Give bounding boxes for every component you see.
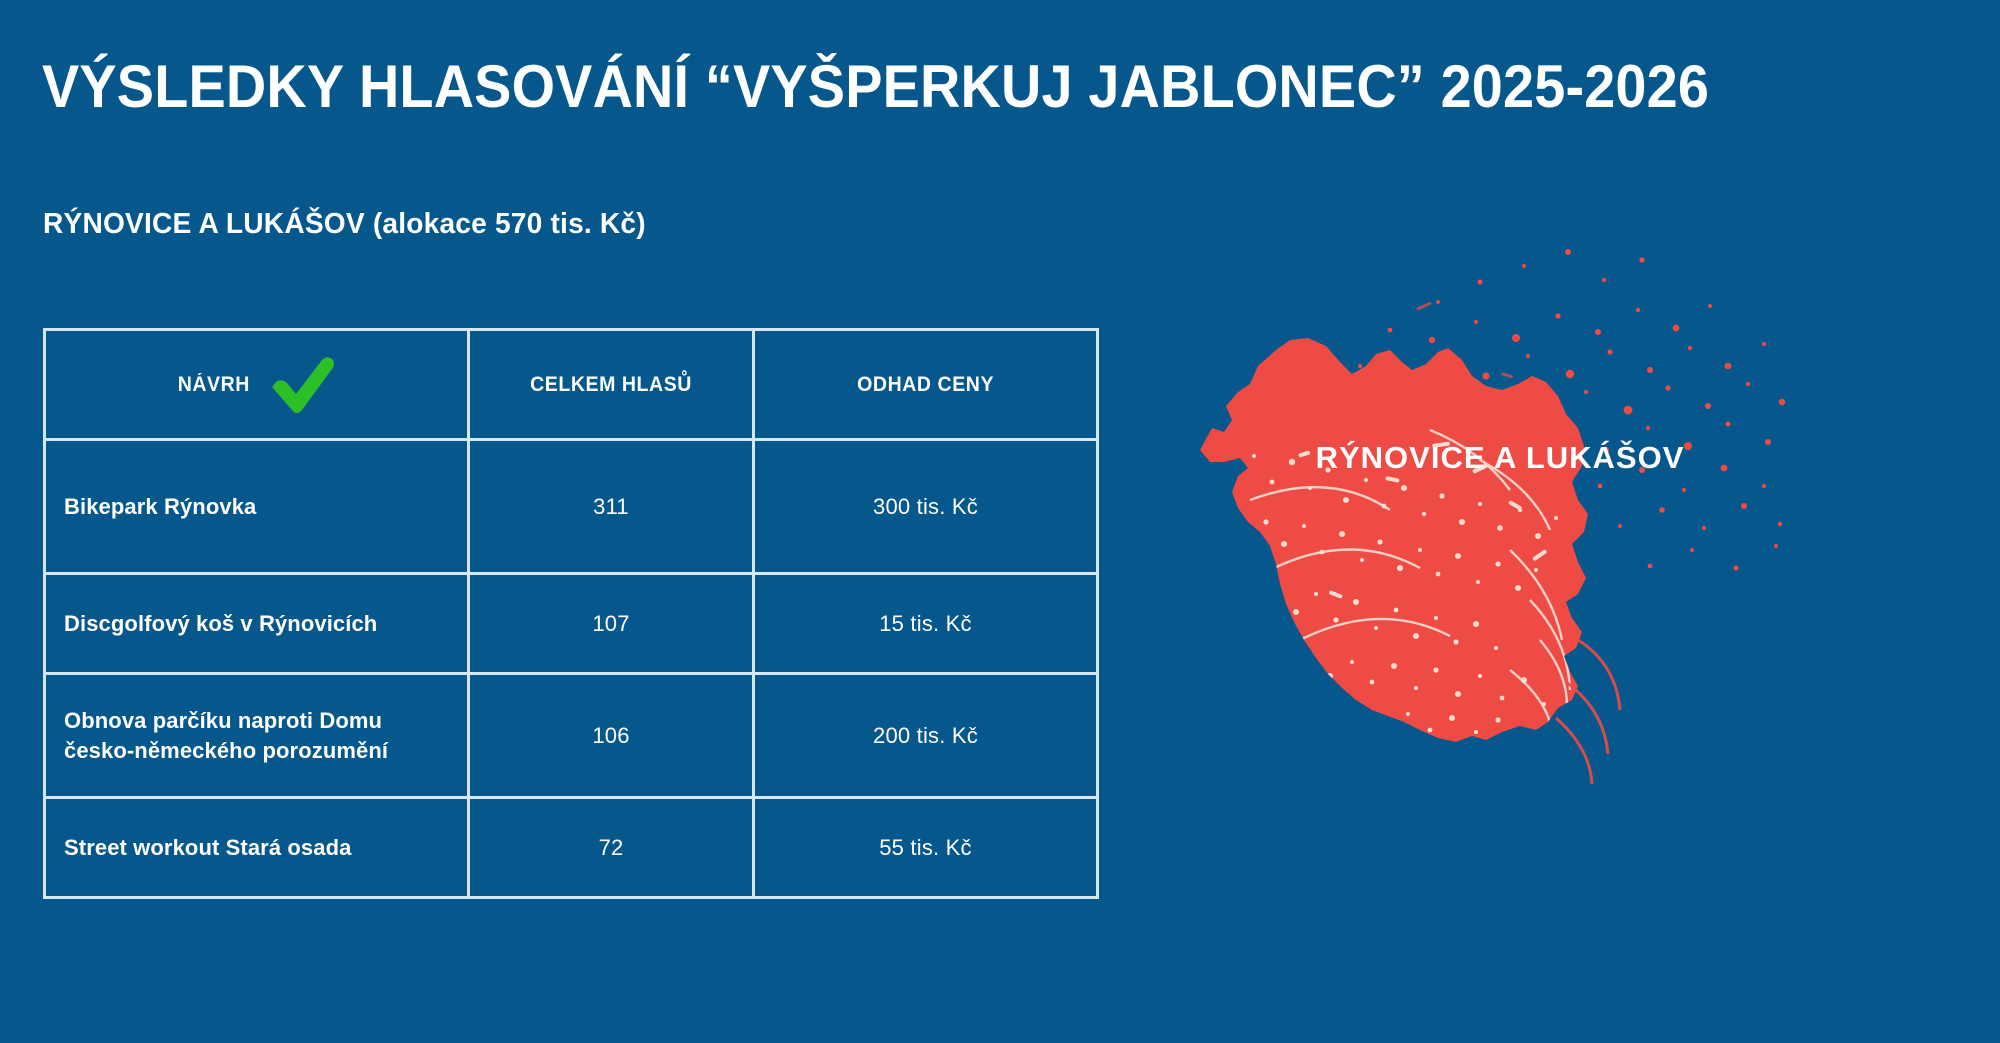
cell-proposal-name: Obnova parčíku naproti Domu česko-německ… (45, 674, 469, 798)
cell-price-estimate: 200 tis. Kč (754, 674, 1098, 798)
column-header-hlasu-label: CELKEM HLASŮ (530, 373, 692, 397)
table-row: Street workout Stará osada 72 55 tis. Kč (45, 798, 1098, 898)
cell-proposal-name: Bikepark Rýnovka (45, 440, 469, 574)
cell-price-estimate: 15 tis. Kč (754, 574, 1098, 674)
table-row: Discgolfový koš v Rýnovicích 107 15 tis.… (45, 574, 1098, 674)
table-header-row: NÁVRH CELKEM HLASŮ ODHAD CENY (45, 330, 1098, 440)
cell-total-votes: 107 (469, 574, 754, 674)
table-body: Bikepark Rýnovka 311 300 tis. Kč Discgol… (45, 440, 1098, 898)
cell-proposal-name: Discgolfový koš v Rýnovicích (45, 574, 469, 674)
column-header-hlasu: CELKEM HLASŮ (469, 330, 754, 440)
column-header-cena: ODHAD CENY (754, 330, 1098, 440)
district-map (1180, 170, 1820, 870)
column-header-navrh: NÁVRH (45, 330, 469, 440)
slide: VÝSLEDKY HLASOVÁNÍ “VYŠPERKUJ JABLONEC” … (0, 0, 2000, 1043)
cell-price-estimate: 55 tis. Kč (754, 798, 1098, 898)
cell-total-votes: 106 (469, 674, 754, 798)
table-row: Bikepark Rýnovka 311 300 tis. Kč (45, 440, 1098, 574)
column-header-navrh-label: NÁVRH (177, 373, 249, 397)
district-map-shape (1180, 170, 1820, 870)
cell-total-votes: 311 (469, 440, 754, 574)
results-table-container: NÁVRH CELKEM HLASŮ ODHAD CENY (43, 328, 1096, 899)
results-table: NÁVRH CELKEM HLASŮ ODHAD CENY (43, 328, 1099, 899)
cell-total-votes: 72 (469, 798, 754, 898)
cell-proposal-name-line1: Obnova parčíku naproti Domu (64, 708, 382, 733)
column-header-cena-label: ODHAD CENY (857, 373, 994, 397)
cell-proposal-name-line2: česko-německého porozumění (64, 738, 388, 763)
page-subtitle: RÝNOVICE A LUKÁŠOV (alokace 570 tis. Kč) (43, 208, 646, 241)
cell-proposal-name: Street workout Stará osada (45, 798, 469, 898)
table-header: NÁVRH CELKEM HLASŮ ODHAD CENY (45, 330, 1098, 440)
check-icon (266, 354, 338, 416)
page-title: VÝSLEDKY HLASOVÁNÍ “VYŠPERKUJ JABLONEC” … (42, 55, 1753, 120)
table-row: Obnova parčíku naproti Domu česko-německ… (45, 674, 1098, 798)
cell-price-estimate: 300 tis. Kč (754, 440, 1098, 574)
